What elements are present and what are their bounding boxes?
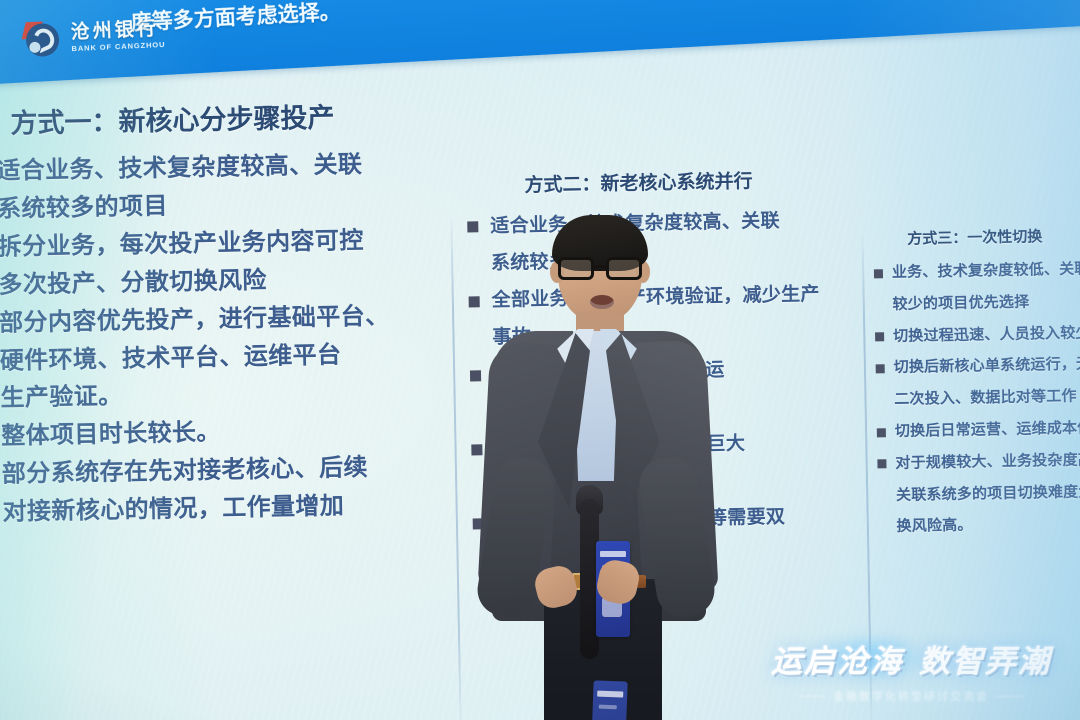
bullet-text: 多次投产、分散切换风险 (0, 267, 267, 299)
slide-column-1: 方式一：新核心分步骤投产 适合业务、技术复杂度较高、关联系统较多的项目拆分业务，… (0, 94, 448, 533)
bullet-continuation: 对接新核心的情况，工作量增加 (0, 486, 448, 533)
bullet-text: 关联系统多的项目切换难度大，切 (896, 482, 1080, 503)
bullet-square-icon (874, 269, 883, 278)
bullet-square-icon (877, 460, 886, 469)
speaker-mouth (590, 295, 614, 309)
column-2-heading: 方式二：新老核心系统并行 (524, 165, 846, 198)
glasses-icon (556, 257, 646, 281)
bullet-square-icon (876, 364, 885, 373)
column-1-heading: 方式一：新核心分步骤投产 (10, 94, 441, 141)
bullet-item: 切换后日常运营、运维成本低 (877, 412, 1080, 449)
speaker-figure (470, 215, 730, 720)
bank-logo: 沧州银行 BANK OF CANGZHOU (23, 9, 171, 66)
bullet-text: 部分系统存在先对接老核心、后续 (2, 454, 368, 488)
bank-name-cn: 沧州银行 (70, 19, 165, 42)
bullet-item: 业务、技术复杂度较低、关联系统 (874, 253, 1080, 290)
watermark-rule-right (996, 696, 1024, 697)
column-1-bullets: 适合业务、技术复杂度较高、关联系统较多的项目拆分业务，每次投产业务内容可控多次投… (0, 145, 448, 533)
bullet-continuation: 较少的项目优先选择 (874, 284, 1080, 321)
slide-column-3: 方式三：一次性切换 业务、技术复杂度较低、关联系统较少的项目优先选择切换过程迅速… (873, 224, 1080, 544)
bullet-text: 系统较多的项目 (0, 193, 168, 223)
bank-name-en: BANK OF CANGZHOU (71, 41, 165, 53)
bullet-text: 拆分业务，每次投产业务内容可控 (0, 227, 364, 261)
bullet-continuation: 换风险高。 (878, 507, 1080, 544)
watermark-main: 运启沧海数智弄潮 (756, 636, 1066, 681)
column-divider-1 (450, 218, 461, 720)
bullet-text: 业务、技术复杂度较低、关联系统 (892, 260, 1080, 281)
bullet-text: 对于规模较大、业务投杂度高、 (895, 451, 1080, 472)
watermark-subtitle: 金融数字化转型研讨交流会 (833, 688, 989, 704)
lanyard-badge-lower (590, 680, 627, 720)
speaker-body (480, 331, 722, 720)
bullet-text: 对接新核心的情况，工作量增加 (2, 493, 344, 526)
bullet-square-icon (877, 428, 886, 437)
watermark-main-left: 运启沧海 (771, 644, 903, 679)
bullet-text: 较少的项目优先选择 (892, 293, 1029, 313)
bullet-item: 切换后新核心单系统运行，无需 (875, 348, 1080, 385)
bullet-text: 切换过程迅速、人员投入较少 (893, 324, 1080, 345)
bullet-text: 二次投入、数据比对等工作 (894, 388, 1077, 408)
bullet-continuation: 关联系统多的项目切换难度大，切 (878, 475, 1080, 512)
watermark-subtitle-row: 金融数字化转型研讨交流会 (756, 688, 1066, 704)
bank-logo-mark-icon (23, 19, 65, 61)
watermark-rule-left (798, 696, 826, 697)
bullet-text: 整体项目时长较长。 (1, 419, 221, 450)
bullet-text: 生产验证。 (0, 383, 122, 412)
bullet-text: 切换后新核心单系统运行，无需 (894, 356, 1080, 377)
bullet-continuation: 二次投入、数据比对等工作 (876, 380, 1080, 417)
bullet-item: 切换过程迅速、人员投入较少 (875, 316, 1080, 353)
bullet-text: 硬件环境、技术平台、运维平台 (0, 341, 342, 374)
conference-photo: 信创环境的切换方式 主流的切换方式为三种：新老核心系统并行使用、新核心分步骤投产… (0, 0, 1080, 720)
bullet-text: 切换后日常运营、运维成本低 (895, 419, 1080, 440)
bullet-text: 部分内容优先投产，进行基础平台、 (0, 302, 390, 336)
bullet-text: 适合业务、技术复杂度较高、关联 (0, 151, 363, 185)
bullet-item: 对于规模较大、业务投杂度高、 (877, 443, 1080, 480)
event-watermark: 运启沧海数智弄潮 金融数字化转型研讨交流会 (756, 636, 1066, 704)
watermark-main-right: 数智弄潮 (919, 644, 1051, 679)
bullet-text: 换风险高。 (896, 517, 972, 535)
column-3-bullets: 业务、技术复杂度较低、关联系统较少的项目优先选择切换过程迅速、人员投入较少切换后… (874, 253, 1080, 544)
bullet-square-icon (875, 332, 884, 341)
column-3-heading: 方式三：一次性切换 (907, 224, 1080, 249)
